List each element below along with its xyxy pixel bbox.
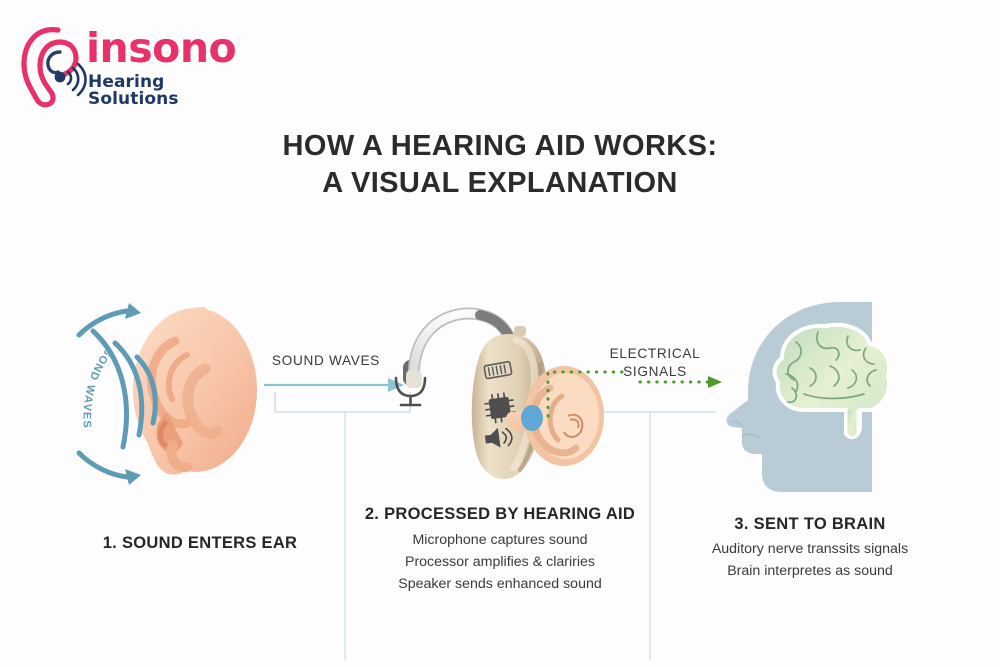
head-brain-illustration bbox=[712, 296, 912, 496]
sound-waves-curved-label: SOND WAVES bbox=[62, 330, 132, 480]
step-2-details: Microphone captures sound Processor ampl… bbox=[340, 529, 660, 595]
step-2-detail-3: Speaker sends enhanced sound bbox=[340, 573, 660, 595]
step-1-heading: 1. SOUND ENTERS EAR bbox=[40, 534, 360, 553]
sound-waves-curved-text: SOND WAVES bbox=[80, 346, 114, 430]
step-3-detail-1: Auditory nerve transsits signals bbox=[650, 538, 970, 560]
svg-text:SOND WAVES: SOND WAVES bbox=[80, 346, 114, 430]
electrical-signals-label: ELECTRICAL SIGNALS bbox=[580, 345, 730, 382]
step-3-caption: 3. SENT TO BRAIN Auditory nerve transsit… bbox=[650, 515, 970, 582]
step-3-detail-2: Brain interpretes as sound bbox=[650, 560, 970, 582]
step-2-detail-2: Processor amplifies & clariries bbox=[340, 551, 660, 573]
infographic-canvas: insono Hearing Solutions HOW A HEARING A… bbox=[0, 0, 1000, 667]
step-1-caption: 1. SOUND ENTERS EAR bbox=[40, 534, 360, 553]
electrical-signals-line-1: ELECTRICAL bbox=[610, 346, 701, 361]
step-3-heading: 3. SENT TO BRAIN bbox=[650, 515, 970, 534]
electrical-signals-line-2: SIGNALS bbox=[580, 363, 730, 381]
step-2-caption: 2. PROCESSED BY HEARING AID Microphone c… bbox=[340, 505, 660, 595]
sound-waves-label: SOUND WAVES bbox=[266, 353, 386, 368]
step-3-details: Auditory nerve transsits signals Brain i… bbox=[650, 538, 970, 582]
step-2-detail-1: Microphone captures sound bbox=[340, 529, 660, 551]
step-2-heading: 2. PROCESSED BY HEARING AID bbox=[340, 505, 660, 524]
